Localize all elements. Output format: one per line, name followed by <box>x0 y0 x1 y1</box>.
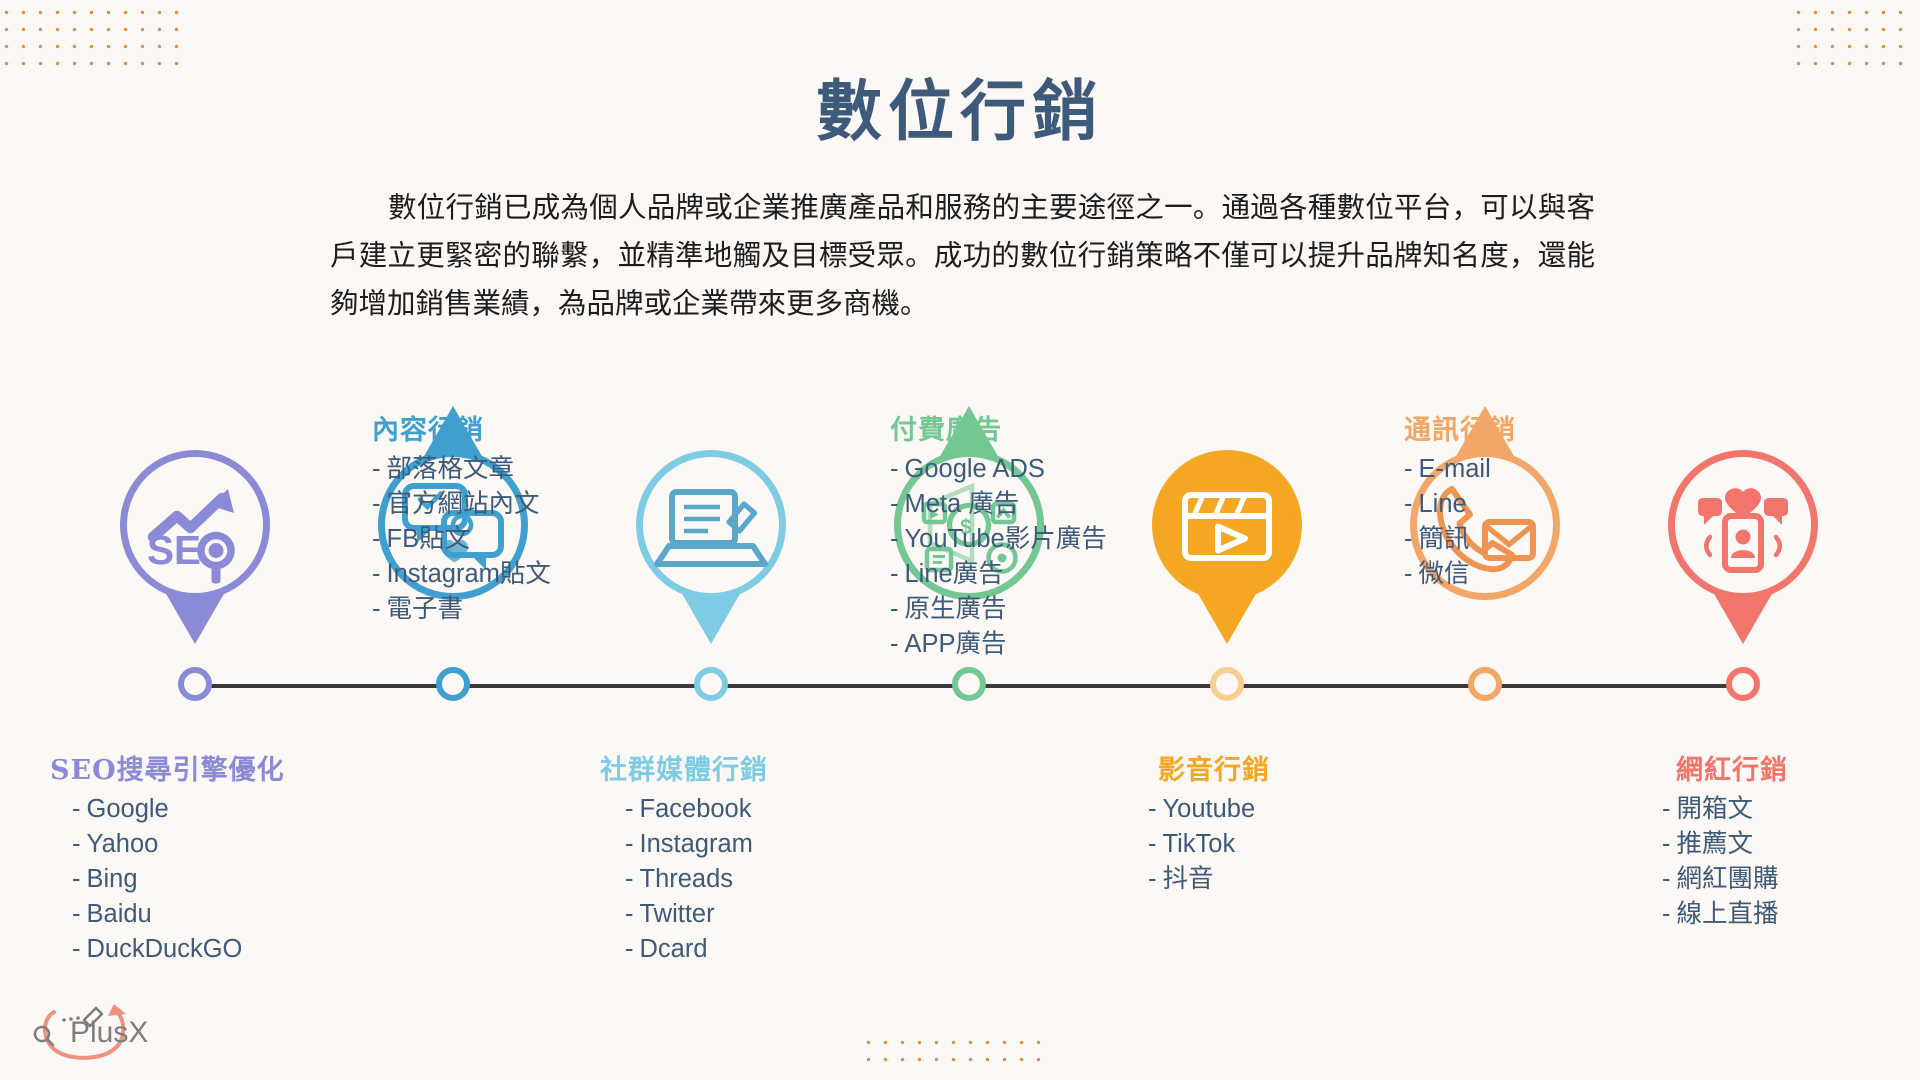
list-item: -Line廣告 <box>890 557 1160 592</box>
timeline-node-content[interactable] <box>436 667 470 701</box>
block-list-video: -Youtube -TikTok -抖音 <box>1148 792 1418 897</box>
list-item: -官方網站內文 <box>372 487 642 522</box>
svg-text:SE: SE <box>147 527 201 573</box>
block-list-seo: -Google -Yahoo -Bing -Baidu -DuckDuckGO <box>50 792 350 967</box>
block-content: 內容行銷 -部落格文章 -官方網站內文 -FB貼文 -Instagram貼文 -… <box>372 408 642 627</box>
list-item: -APP廣告 <box>890 627 1160 662</box>
logo-wordmark: PlusX <box>70 1016 148 1050</box>
timeline-node-social[interactable] <box>694 667 728 701</box>
list-item: -原生廣告 <box>890 592 1160 627</box>
list-item: -Google <box>72 792 350 827</box>
list-item: -電子書 <box>372 592 642 627</box>
dot-pattern-bottom-center <box>860 1034 1050 1074</box>
list-item: -抖音 <box>1148 862 1418 897</box>
block-paid: 付費廣告 -Google ADS -Meta 廣告 -YouTube影片廣告 -… <box>890 408 1160 662</box>
timeline-node-video[interactable] <box>1210 667 1244 701</box>
block-heading-seo: SEO搜尋引擎優化 <box>50 748 350 787</box>
list-item: -FB貼文 <box>372 522 642 557</box>
block-seo: SEO搜尋引擎優化 -Google -Yahoo -Bing -Baidu -D… <box>50 748 350 967</box>
list-item: -YouTube影片廣告 <box>890 522 1160 557</box>
list-item: -部落格文章 <box>372 452 642 487</box>
seo-trend-magnifier-icon: SE <box>120 450 270 600</box>
block-heading-content: 內容行銷 <box>372 408 642 447</box>
block-list-messaging: -E-mail -Line -簡訊 -微信 <box>1404 452 1674 592</box>
laptop-document-icon <box>636 450 786 600</box>
block-influencer: 網紅行銷 -開箱文 -推薦文 -網紅團購 -線上直播 <box>1648 748 1918 932</box>
intro-paragraph: 數位行銷已成為個人品牌或企業推廣產品和服務的主要途徑之一。通過各種數位平台，可以… <box>330 185 1595 329</box>
block-list-social: -Facebook -Instagram -Threads -Twitter -… <box>600 792 870 967</box>
pin-seo[interactable]: SE <box>120 450 270 600</box>
list-item: -Twitter <box>625 897 870 932</box>
block-heading-messaging: 通訊行銷 <box>1404 408 1674 447</box>
list-item: -Instagram <box>625 827 870 862</box>
list-item: -Meta 廣告 <box>890 487 1160 522</box>
block-messaging: 通訊行銷 -E-mail -Line -簡訊 -微信 <box>1404 408 1674 592</box>
list-item: -線上直播 <box>1662 897 1918 932</box>
block-social: 社群媒體行銷 -Facebook -Instagram -Threads -Tw… <box>600 748 870 967</box>
list-item: -TikTok <box>1148 827 1418 862</box>
pin-video[interactable] <box>1152 450 1302 600</box>
pin-social[interactable] <box>636 450 786 600</box>
list-item: -Baidu <box>72 897 350 932</box>
list-item: -Dcard <box>625 932 870 967</box>
list-item: -Line <box>1404 487 1674 522</box>
timeline-node-seo[interactable] <box>178 667 212 701</box>
video-play-icon <box>1152 450 1302 600</box>
list-item: -E-mail <box>1404 452 1674 487</box>
pin-influencer[interactable] <box>1668 450 1818 600</box>
brand-logo[interactable]: PlusX <box>22 990 172 1070</box>
list-item: -Instagram貼文 <box>372 557 642 592</box>
block-list-paid: -Google ADS -Meta 廣告 -YouTube影片廣告 -Line廣… <box>890 452 1160 662</box>
timeline-node-messaging[interactable] <box>1468 667 1502 701</box>
timeline-node-paid[interactable] <box>952 667 986 701</box>
block-list-content: -部落格文章 -官方網站內文 -FB貼文 -Instagram貼文 -電子書 <box>372 452 642 627</box>
block-heading-video: 影音行銷 <box>1148 748 1418 787</box>
list-item: -DuckDuckGO <box>72 932 350 967</box>
list-item: -Youtube <box>1148 792 1418 827</box>
list-item: -網紅團購 <box>1662 862 1918 897</box>
list-item: -推薦文 <box>1662 827 1918 862</box>
list-item: -Google ADS <box>890 452 1160 487</box>
timeline-node-influencer[interactable] <box>1726 667 1760 701</box>
block-heading-influencer: 網紅行銷 <box>1648 748 1918 787</box>
list-item: -Facebook <box>625 792 870 827</box>
list-item: -簡訊 <box>1404 522 1674 557</box>
block-heading-paid: 付費廣告 <box>890 408 1160 447</box>
list-item: -Threads <box>625 862 870 897</box>
list-item: -Yahoo <box>72 827 350 862</box>
list-item: -Bing <box>72 862 350 897</box>
infographic-canvas: 數位行銷 數位行銷已成為個人品牌或企業推廣產品和服務的主要途徑之一。通過各種數位… <box>0 0 1920 1080</box>
block-list-influencer: -開箱文 -推薦文 -網紅團購 -線上直播 <box>1648 792 1918 932</box>
page-title: 數位行銷 <box>0 58 1920 154</box>
list-item: -微信 <box>1404 557 1674 592</box>
block-video: 影音行銷 -Youtube -TikTok -抖音 <box>1148 748 1418 897</box>
list-item: -開箱文 <box>1662 792 1918 827</box>
block-heading-social: 社群媒體行銷 <box>600 748 870 787</box>
mobile-live-stream-icon <box>1668 450 1818 600</box>
